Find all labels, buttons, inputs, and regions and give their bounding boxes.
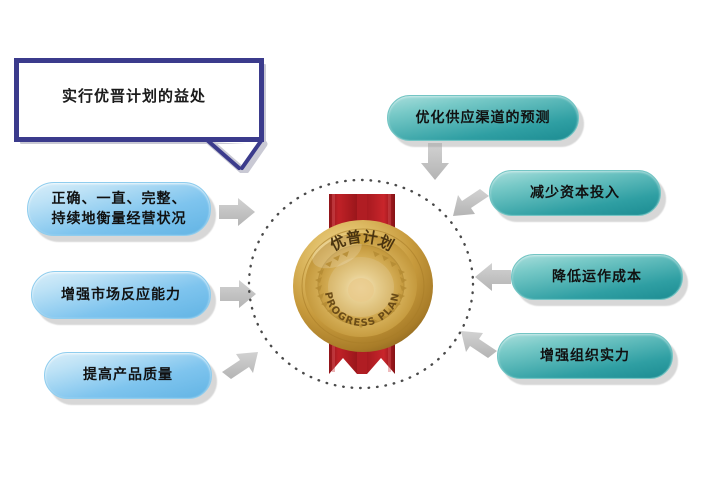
left-node-3-label: 提高产品质量 (83, 365, 173, 385)
arrow-right-1 (421, 143, 449, 180)
left-node-1[interactable]: 正确、一直、完整、 持续地衡量经营状况 (27, 182, 211, 236)
right-node-2-label: 减少资本投入 (530, 183, 620, 203)
right-node-4-label: 增强组织实力 (540, 346, 630, 366)
left-node-2[interactable]: 增强市场反应能力 (31, 271, 211, 319)
left-node-3[interactable]: 提高产品质量 (44, 352, 212, 399)
arrow-right-3 (475, 263, 511, 291)
medal-icon: 优普计划 PROGRESS PLAN (287, 186, 437, 382)
callout-text: 实行优晋计划的益处 (14, 58, 254, 132)
right-node-2[interactable]: 减少资本投入 (489, 170, 661, 216)
right-node-3-label: 降低运作成本 (552, 267, 642, 287)
center-medal-stage: 优普计划 PROGRESS PLAN (243, 176, 479, 392)
right-node-4[interactable]: 增强组织实力 (497, 333, 673, 379)
title-callout: 实行优晋计划的益处 (14, 58, 272, 173)
diagram-canvas: 实行优晋计划的益处 (0, 0, 720, 477)
right-node-1[interactable]: 优化供应渠道的预测 (387, 95, 579, 141)
left-node-2-label: 增强市场反应能力 (61, 285, 181, 305)
left-node-1-label: 正确、一直、完整、 持续地衡量经营状况 (52, 189, 187, 230)
right-node-3[interactable]: 降低运作成本 (511, 254, 683, 300)
right-node-1-label: 优化供应渠道的预测 (416, 108, 551, 128)
